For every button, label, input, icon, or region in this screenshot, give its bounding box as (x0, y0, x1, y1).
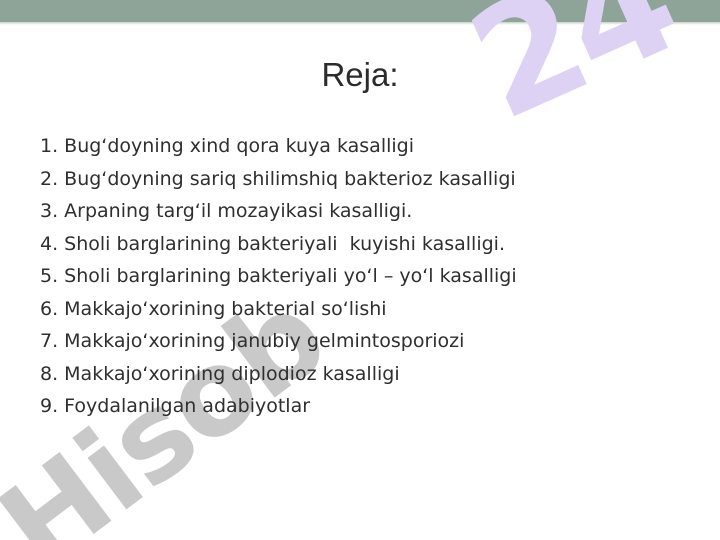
list-item: 6. Makkajo‘xorining bakterial so‘lishi (40, 293, 690, 326)
slide-content: Reja: 1. Bug‘doyning xind qora kuya kasa… (0, 0, 720, 540)
list-item: 9. Foydalanilgan adabiyotlar (40, 390, 690, 423)
list-item: 1. Bug‘doyning xind qora kuya kasalligi (40, 130, 690, 163)
list-item: 8. Makkajo‘xorining diplodioz kasalligi (40, 358, 690, 391)
page-title: Reja: (0, 56, 720, 94)
outline-list: 1. Bug‘doyning xind qora kuya kasalligi … (40, 130, 690, 423)
list-item: 3. Arpaning targ‘il mozayikasi kasalligi… (40, 195, 690, 228)
list-item: 5. Sholi barglarining bakteriyali yo‘l –… (40, 260, 690, 293)
list-item: 2. Bug‘doyning sariq shilimshiq bakterio… (40, 163, 690, 196)
list-item: 7. Makkajo‘xorining janubiy gelmintospor… (40, 325, 690, 358)
list-item: 4. Sholi barglarining bakteriyali kuyish… (40, 228, 690, 261)
presentation-slide: 24 Hisob Reja: 1. Bug‘doyning xind qora … (0, 0, 720, 540)
